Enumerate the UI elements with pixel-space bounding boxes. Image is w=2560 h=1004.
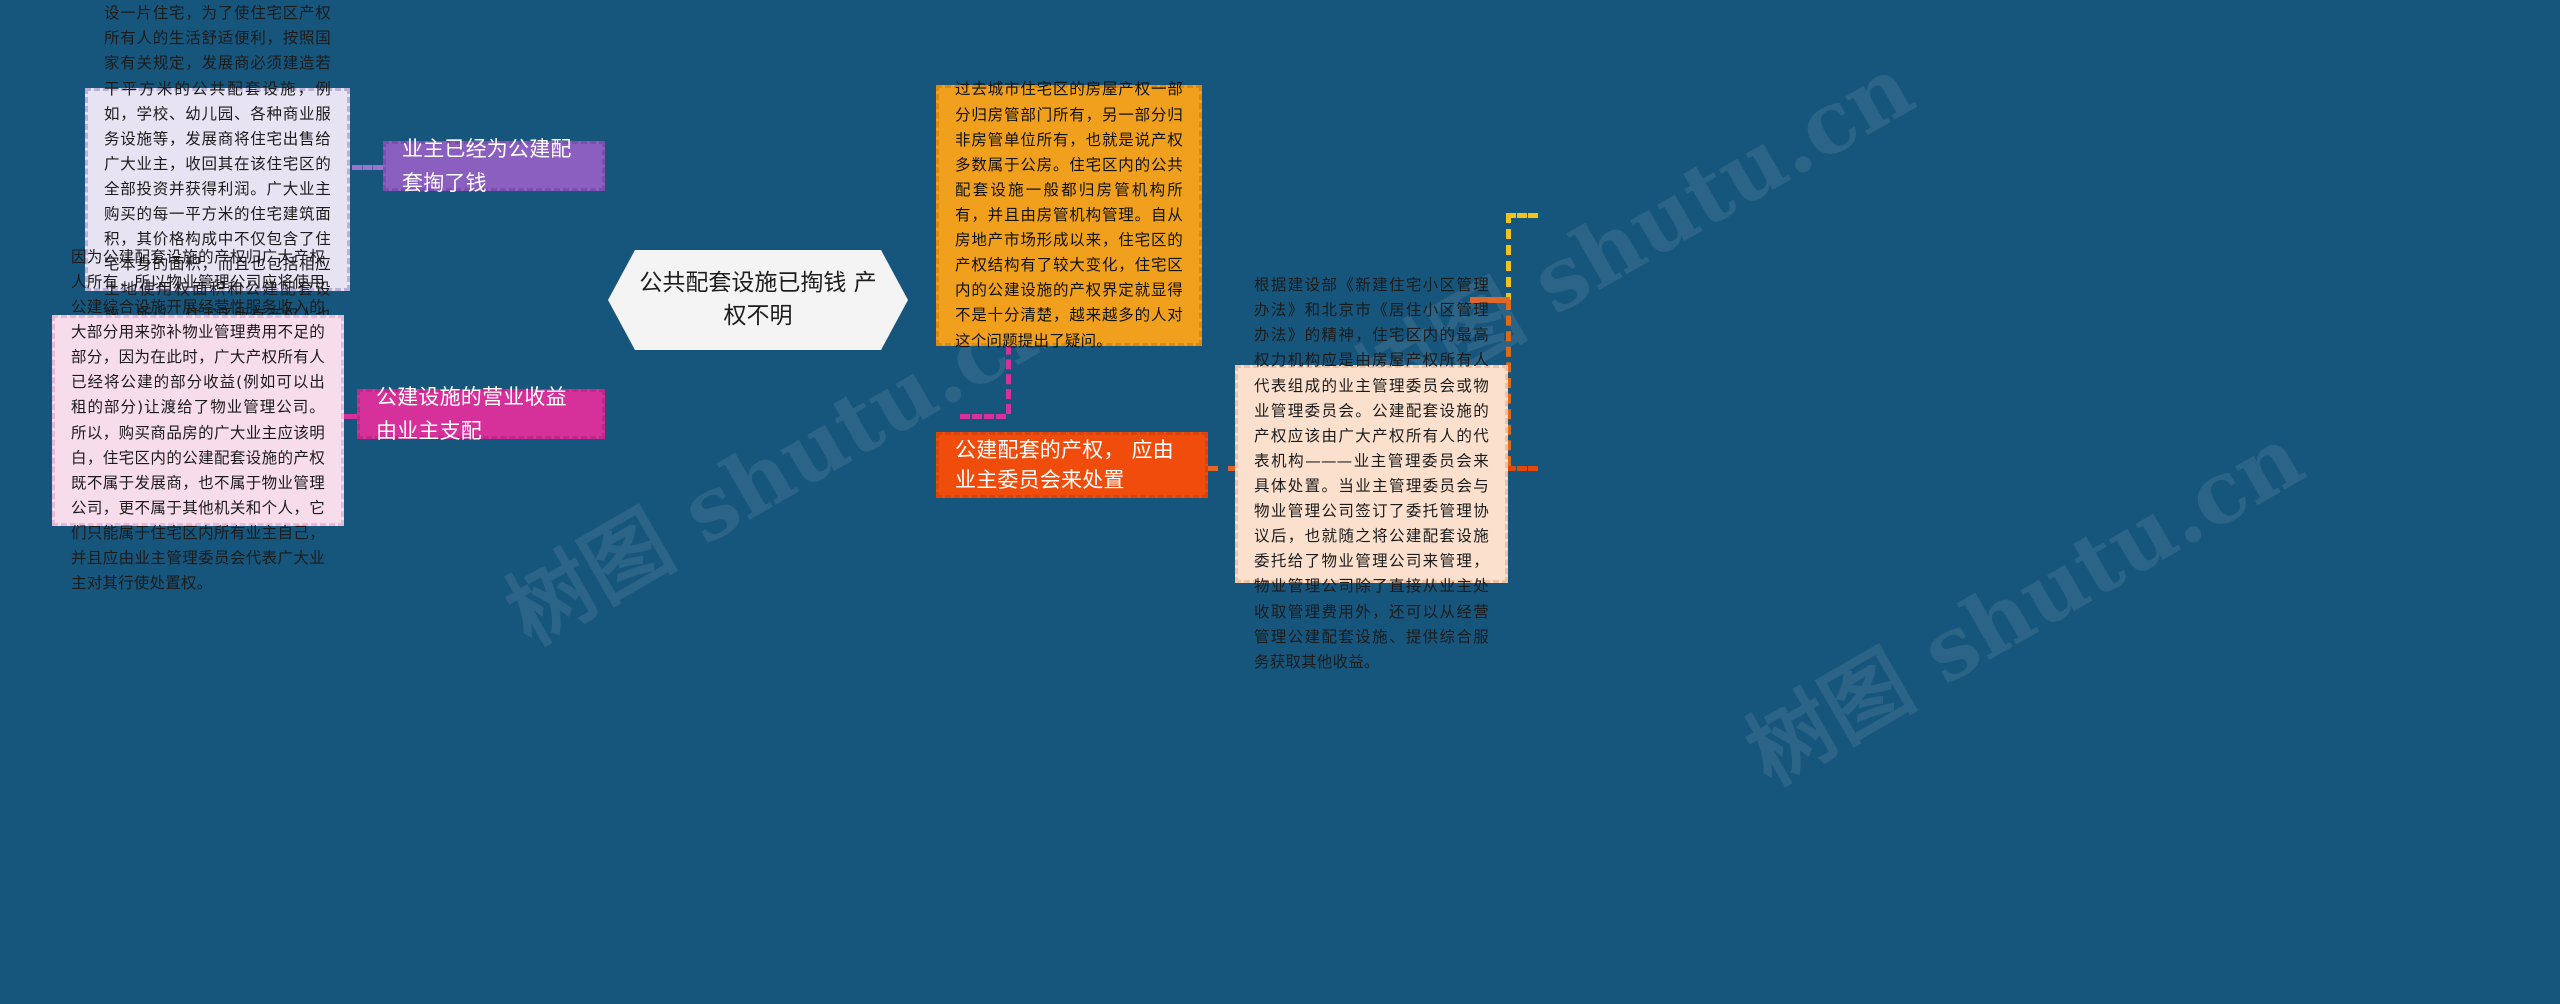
connector-right-topic-orange (1506, 213, 1538, 218)
detail-box-regulations[interactable]: 根据建设部《新建住宅小区管理办法》和北京市《居住小区管理办法》的精神，住宅区内的… (1235, 365, 1508, 583)
connector-magenta-detail (344, 414, 357, 419)
detail-box-historical-ownership[interactable]: 过去城市住宅区的房屋产权一部分归房管部门所有，另一部分归非房管单位所有，也就是说… (936, 85, 1202, 346)
center-topic-node[interactable]: 公共配套设施已掏钱 产权不明 (608, 250, 908, 350)
topic-ownership-committee[interactable]: 公建配套的产权， 应由业主委员会来处置 (936, 432, 1208, 498)
connector-purple-detail (352, 165, 383, 170)
topic-label: 公建设施的营业收益由业主支配 (376, 380, 586, 448)
connector-orangered-detail (1208, 466, 1238, 471)
topic-owners-paid[interactable]: 业主已经为公建配套掏了钱 (383, 141, 605, 191)
topic-revenue-controlled-by-owners[interactable]: 公建设施的营业收益由业主支配 (357, 389, 605, 439)
detail-text: 因为公建配套设施的产权归广大产权人所有，所以物业管理公司应将使用公建综合设施开展… (71, 245, 325, 597)
detail-box-property-revenue[interactable]: 因为公建配套设施的产权归广大产权人所有，所以物业管理公司应将使用公建综合设施开展… (52, 315, 344, 526)
connector-right-topic-orangered (1506, 466, 1538, 471)
detail-text: 根据建设部《新建住宅小区管理办法》和北京市《居住小区管理办法》的精神，住宅区内的… (1254, 273, 1489, 675)
watermark: 树图 shutu.cn (1720, 389, 2322, 809)
topic-label: 公建配套的产权， 应由业主委员会来处置 (955, 435, 1189, 496)
center-topic-label: 公共配套设施已掏钱 产权不明 (608, 267, 908, 334)
topic-label: 业主已经为公建配套掏了钱 (402, 132, 586, 200)
mindmap-canvas: 树图 shutu.cn 树图 shutu.cn 树图 shutu.cn 发展商向… (0, 0, 2560, 1004)
connector-right-spine-upper (1506, 213, 1511, 303)
connector-left-topic-magenta (960, 414, 1006, 419)
detail-text: 过去城市住宅区的房屋产权一部分归房管部门所有，另一部分归非房管单位所有，也就是说… (955, 77, 1183, 353)
